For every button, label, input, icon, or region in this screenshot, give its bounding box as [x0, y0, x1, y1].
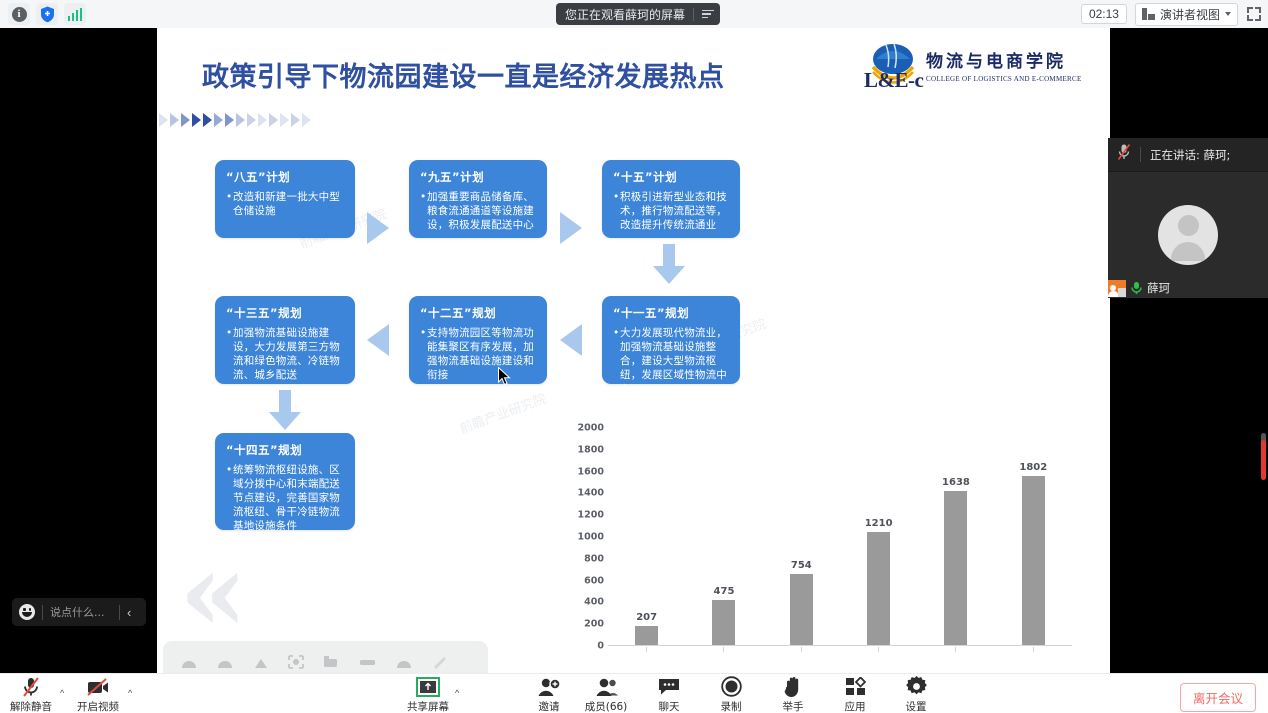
- raise-hand-icon: [783, 676, 804, 697]
- chart-bar-group: 1802: [995, 428, 1072, 645]
- annotation-toolbar[interactable]: [163, 641, 488, 673]
- chart-y-tick-label: 400: [584, 597, 604, 608]
- pen-icon[interactable]: [245, 649, 275, 673]
- decorative-quote-mark: «: [179, 553, 248, 630]
- policy-box-heading: “十四五”规划: [226, 442, 345, 458]
- chart-bar: [712, 600, 735, 645]
- chart-y-axis-labels: 2000180016001400120010008006004002000: [572, 428, 604, 646]
- arrow-right-icon: [367, 212, 389, 244]
- top-bar-status-icons: i: [0, 3, 86, 25]
- chart-y-tick-label: 600: [584, 575, 604, 586]
- top-bar-right: 02:13 演讲者视图: [1081, 0, 1262, 28]
- chevron-left-icon[interactable]: ‹: [127, 606, 131, 619]
- arrow-left-icon: [560, 324, 582, 356]
- policy-box-body: 加强物流基础设施建设，大力发展第三方物流和绿色物流、冷链物流、城乡配送: [226, 326, 345, 382]
- policy-box-85: “八五”计划 改造和新建一批大中型仓储设施: [215, 160, 355, 238]
- layout-icon: [1142, 8, 1155, 20]
- bar-chart: 2000180016001400120010008006004002000 20…: [572, 428, 1072, 663]
- logo-lec-text: L&E-c: [864, 68, 923, 93]
- policy-box-heading: “八五”计划: [226, 169, 345, 185]
- chevron-decoration: [159, 113, 313, 127]
- shared-slide: 政策引导下物流园建设一直是经济发展热点 L&E-c: [157, 28, 1110, 673]
- speaking-label: 正在讲话: 薛珂;: [1150, 147, 1230, 163]
- top-bar: i 您正在观看薛珂的屏幕 02:13 演讲者视图: [0, 0, 1268, 28]
- fullscreen-icon[interactable]: [1246, 6, 1262, 22]
- arrow-left-icon: [367, 324, 389, 356]
- select-icon[interactable]: [209, 649, 239, 673]
- policy-box-heading: “十三五”规划: [226, 305, 345, 321]
- view-mode-button[interactable]: 演讲者视图: [1135, 3, 1238, 26]
- divider: [119, 605, 120, 620]
- chart-x-tick: [917, 647, 994, 655]
- chevron-down-icon: [1225, 12, 1231, 16]
- toolbar-record-label: 录制: [721, 699, 742, 713]
- video-off-icon: [86, 676, 110, 697]
- chart-y-tick-label: 1200: [578, 510, 604, 521]
- policy-box-heading: “十二五”规划: [420, 305, 537, 321]
- divider: [693, 8, 694, 21]
- mic-green-icon: [1131, 281, 1142, 295]
- toolbar-settings-label: 设置: [906, 699, 927, 713]
- logo-text-block: 物流与电商学院 COLLEGE OF LOGISTICS AND E-COMME…: [926, 47, 1082, 83]
- chart-y-tick-label: 0: [597, 641, 604, 652]
- toolbar-raise-hand-button[interactable]: 举手: [760, 676, 826, 713]
- watching-screen-notice: 您正在观看薛珂的屏幕: [556, 3, 720, 25]
- chart-x-ticks: [608, 647, 1072, 655]
- chart-x-tick: [763, 647, 840, 655]
- policy-box-heading: “十一五”规划: [613, 305, 730, 321]
- toolbar-participants-button[interactable]: 成员(66): [573, 676, 639, 713]
- chart-bar: [790, 574, 813, 645]
- mouse-cursor-icon: [498, 367, 511, 386]
- chart-bar: [1022, 476, 1045, 645]
- watching-screen-text: 您正在观看薛珂的屏幕: [565, 6, 685, 23]
- chart-bar-value: 1802: [1019, 462, 1047, 473]
- chart-y-tick-label: 1400: [578, 488, 604, 499]
- chart-bar: [944, 491, 967, 645]
- draw-icon[interactable]: [425, 649, 455, 673]
- leave-meeting-button[interactable]: 离开会议: [1180, 683, 1256, 712]
- chart-y-tick-label: 1800: [578, 444, 604, 455]
- share-screen-icon: [416, 676, 440, 697]
- chart-bar-value: 475: [714, 586, 735, 597]
- participants-icon: [593, 676, 619, 697]
- policy-box-105: “十五”计划 积极引进新型业态和技术，推行物流配送等，改造提升传统流通业: [602, 160, 740, 238]
- policy-box-body: 改造和新建一批大中型仓储设施: [226, 190, 345, 218]
- toolbar-video-label: 开启视频: [77, 699, 119, 713]
- toolbar-share-screen-button[interactable]: 共享屏幕: [395, 676, 461, 713]
- chart-y-tick-label: 1000: [578, 532, 604, 543]
- toolbar-mute-button[interactable]: 解除静音: [0, 676, 64, 713]
- signal-bars-icon[interactable]: [64, 3, 86, 25]
- toolbar-mute-label: 解除静音: [10, 699, 52, 713]
- chart-bar-value: 207: [636, 612, 657, 623]
- mouse-pointer-icon[interactable]: [173, 649, 203, 673]
- chart-bar-group: 1638: [917, 428, 994, 645]
- page-title: 政策引导下物流园建设一直是经济发展热点: [202, 55, 725, 94]
- policy-box-body: 大力发展现代物流业，加强物流基础设施整合，建设大型物流枢纽，发展区域性物流中心: [613, 326, 730, 396]
- policy-box-135: “十三五”规划 加强物流基础设施建设，大力发展第三方物流和绿色物流、冷链物流、城…: [215, 296, 355, 384]
- policy-box-body: 支持物流园区等物流功能集聚区有序发展，加强物流基础设施建设和衔接: [420, 326, 537, 382]
- toolbar-share-label: 共享屏幕: [407, 699, 449, 713]
- toolbar-record-button[interactable]: 录制: [698, 676, 764, 713]
- chart-bar-group: 754: [763, 428, 840, 645]
- chart-bar-group: 475: [685, 428, 762, 645]
- smiley-icon[interactable]: [19, 604, 35, 620]
- arrow-down-icon: [652, 244, 686, 286]
- zoom-meeting-window: i 您正在观看薛珂的屏幕 02:13 演讲者视图: [0, 0, 1268, 713]
- logo-english-name: COLLEGE OF LOGISTICS AND E-COMMERCE: [926, 75, 1082, 83]
- spotlight-icon[interactable]: [281, 649, 311, 673]
- chart-x-tick: [995, 647, 1072, 655]
- chart-x-tick: [608, 647, 685, 655]
- speaker-footer: 薛珂: [1108, 278, 1170, 298]
- policy-box-145: “十四五”规划 统筹物流枢纽设施、区域分拨中心和末端配送节点建设，完善国家物流枢…: [215, 433, 355, 530]
- chart-y-tick-label: 1600: [578, 466, 604, 477]
- divider: [42, 605, 43, 620]
- mute-options-chevron-icon[interactable]: ^: [60, 688, 64, 698]
- chart-x-tick: [685, 647, 762, 655]
- toolbar-settings-button[interactable]: 设置: [883, 676, 949, 713]
- settings-gear-icon: [906, 676, 927, 697]
- meeting-toolbar: 解除静音 ^ 开启视频 ^ 共享屏幕 ^ 邀请: [0, 673, 1268, 713]
- mic-off-icon: [1117, 143, 1131, 166]
- stamp-icon[interactable]: [389, 649, 419, 673]
- policy-box-125: “十二五”规划 支持物流园区等物流功能集聚区有序发展，加强物流基础设施建设和衔接: [409, 296, 547, 384]
- speaker-video-area[interactable]: 薛珂: [1108, 172, 1268, 298]
- toolbar-video-button[interactable]: 开启视频: [65, 676, 131, 713]
- chart-bar-value: 754: [791, 560, 812, 571]
- panel-scrollbar[interactable]: [1261, 433, 1266, 480]
- chat-icon: [657, 676, 681, 697]
- chart-bars: 207475754121016381802: [608, 428, 1072, 645]
- policy-box-body: 积极引进新型业态和技术，推行物流配送等，改造提升传统流通业: [613, 190, 730, 232]
- policy-box-95: “九五”计划 加强重要商品储备库、粮食流通通道等设施建设，积极发展配送中心: [409, 160, 547, 238]
- info-icon[interactable]: i: [8, 3, 30, 25]
- toolbar-invite-label: 邀请: [539, 699, 560, 713]
- apps-icon: [845, 676, 866, 697]
- invite-icon: [537, 676, 561, 697]
- speaker-panel-header: 正在讲话: 薛珂;: [1108, 138, 1268, 172]
- chart-bar-group: 207: [608, 428, 685, 645]
- record-icon: [721, 676, 742, 697]
- person-avatar-icon: [1158, 205, 1218, 265]
- toolbar-apps-button[interactable]: 应用: [822, 676, 888, 713]
- toolbar-chat-button[interactable]: 聊天: [636, 676, 702, 713]
- chat-input-bar[interactable]: 说点什么... ‹: [12, 598, 146, 626]
- policy-box-body: 统筹物流枢纽设施、区域分拨中心和末端配送节点建设，完善国家物流枢纽、骨干冷链物流…: [226, 463, 345, 533]
- eraser-icon[interactable]: [317, 649, 347, 673]
- chart-bar: [867, 532, 890, 645]
- toolbar-chat-label: 聊天: [659, 699, 680, 713]
- highlight-icon[interactable]: [353, 649, 383, 673]
- video-options-chevron-icon[interactable]: ^: [128, 688, 132, 698]
- divider: [1140, 147, 1141, 162]
- screen-share-indicator-icon: [1108, 280, 1126, 297]
- share-options-chevron-icon[interactable]: ^: [455, 688, 459, 698]
- scrollbar-thumb[interactable]: [1261, 440, 1266, 480]
- chart-bar-value: 1638: [942, 477, 970, 488]
- speaker-thumbnail-panel: 正在讲话: 薛珂; 薛珂: [1108, 138, 1268, 298]
- chart-x-axis-line: [608, 645, 1072, 646]
- chart-y-tick-label: 800: [584, 553, 604, 564]
- policy-box-body: 加强重要商品储备库、粮食流通通道等设施建设，积极发展配送中心: [420, 190, 537, 232]
- toolbar-participants-label: 成员(66): [585, 699, 628, 713]
- toolbar-apps-label: 应用: [845, 699, 866, 713]
- school-logo: L&E-c 物流与电商学院 COLLEGE OF LOGISTICS AND E…: [864, 35, 1084, 97]
- shield-icon[interactable]: [36, 3, 58, 25]
- toolbar-raise-hand-label: 举手: [783, 699, 804, 713]
- arrow-right-icon: [560, 212, 582, 244]
- policy-box-heading: “九五”计划: [420, 169, 537, 185]
- chart-bar: [635, 626, 658, 645]
- watermark: 前瞻产业研究院: [456, 388, 548, 437]
- participant-name: 薛珂: [1147, 280, 1170, 296]
- chart-y-tick-label: 200: [584, 619, 604, 630]
- chart-plot-area: 207475754121016381802: [608, 428, 1072, 646]
- logo-chinese-name: 物流与电商学院: [926, 47, 1082, 72]
- shared-screen-stage: 政策引导下物流园建设一直是经济发展热点 L&E-c: [0, 28, 1268, 673]
- arrow-down-icon: [268, 390, 302, 432]
- chart-x-tick: [840, 647, 917, 655]
- chart-bar-group: 1210: [840, 428, 917, 645]
- policy-box-115: “十一五”规划 大力发展现代物流业，加强物流基础设施整合，建设大型物流枢纽，发展…: [602, 296, 740, 384]
- policy-box-heading: “十五”计划: [613, 169, 730, 185]
- meeting-timer: 02:13: [1081, 4, 1127, 24]
- chart-y-tick-label: 2000: [578, 423, 604, 434]
- menu-lines-icon[interactable]: [702, 10, 714, 19]
- chat-input-placeholder[interactable]: 说点什么...: [50, 604, 112, 620]
- chart-bar-value: 1210: [865, 518, 893, 529]
- mic-off-icon: [21, 676, 41, 697]
- view-mode-label: 演讲者视图: [1160, 6, 1220, 23]
